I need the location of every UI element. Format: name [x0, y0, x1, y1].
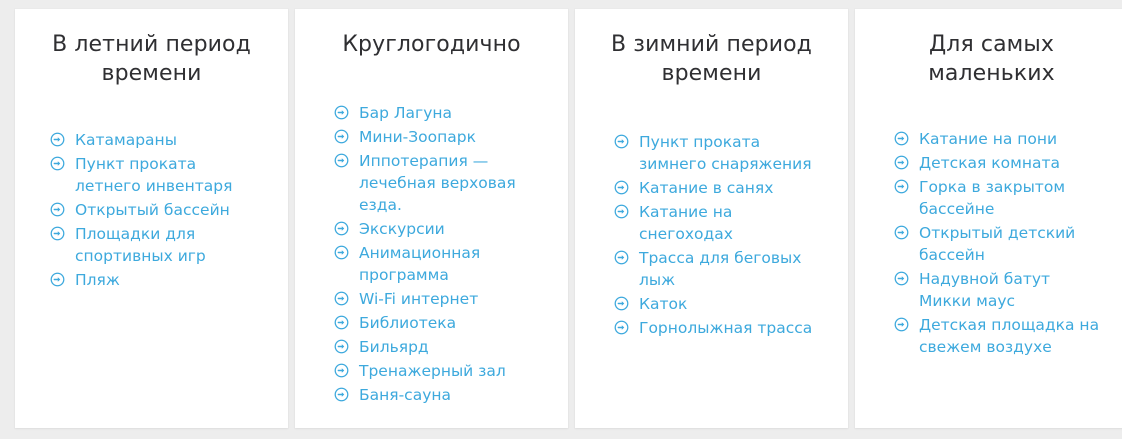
feature-list-item[interactable]: Открытый бассейн: [50, 199, 262, 221]
circle-arrow-right-icon: [334, 315, 349, 330]
feature-card: В летний период времениКатамараныПункт п…: [15, 9, 288, 428]
circle-arrow-right-icon: [334, 363, 349, 378]
circle-arrow-right-icon: [50, 132, 65, 147]
feature-list-item[interactable]: Горнолыжная трасса: [614, 317, 822, 339]
feature-list-item[interactable]: Площадки для спортивных игр: [50, 223, 262, 267]
feature-item-label: Катание в санях: [639, 177, 822, 199]
circle-arrow-right-icon: [614, 134, 629, 149]
circle-arrow-right-icon: [614, 296, 629, 311]
feature-item-label: Каток: [639, 293, 822, 315]
feature-list-item[interactable]: Мини-Зоопарк: [334, 126, 542, 148]
feature-item-label: Катание на снегоходах: [639, 201, 822, 245]
feature-list-item[interactable]: Пункт проката летнего инвентаря: [50, 153, 262, 197]
feature-item-label: Детская площадка на свежем воздухе: [919, 314, 1102, 358]
feature-item-label: Горка в закрытом бассейне: [919, 176, 1102, 220]
circle-arrow-right-icon: [614, 204, 629, 219]
feature-item-label: Анимационная программа: [359, 242, 542, 286]
feature-item-label: Экскурсии: [359, 218, 542, 240]
feature-item-label: Иппотерапия — лечебная верховая езда.: [359, 150, 542, 216]
feature-list-item[interactable]: Трасса для беговых лыж: [614, 247, 822, 291]
circle-arrow-right-icon: [50, 156, 65, 171]
feature-item-label: Пункт проката летнего инвентаря: [75, 153, 262, 197]
feature-item-label: Площадки для спортивных игр: [75, 223, 262, 267]
circle-arrow-right-icon: [50, 202, 65, 217]
feature-item-label: Тренажерный зал: [359, 360, 542, 382]
feature-list-item[interactable]: Катание на снегоходах: [614, 201, 822, 245]
feature-list-item[interactable]: Пляж: [50, 269, 262, 291]
feature-item-label: Горнолыжная трасса: [639, 317, 822, 339]
feature-list: Бар ЛагунаМини-ЗоопаркИппотерапия — лече…: [321, 102, 542, 408]
circle-arrow-right-icon: [894, 155, 909, 170]
feature-list-item[interactable]: Детская комната: [894, 152, 1102, 174]
feature-list-item[interactable]: Катание в санях: [614, 177, 822, 199]
feature-cards-grid: В летний период времениКатамараныПункт п…: [0, 0, 1122, 439]
feature-item-label: Бильярд: [359, 336, 542, 358]
feature-list-item[interactable]: Баня-сауна: [334, 384, 542, 406]
feature-item-label: Детская комната: [919, 152, 1102, 174]
circle-arrow-right-icon: [334, 105, 349, 120]
feature-item-label: Открытый бассейн: [75, 199, 262, 221]
feature-list-item[interactable]: Пункт проката зимнего снаряжения: [614, 131, 822, 175]
feature-card: В зимний период времениПункт проката зим…: [575, 9, 848, 428]
feature-list-item[interactable]: Бар Лагуна: [334, 102, 542, 124]
feature-item-label: Wi-Fi интернет: [359, 288, 542, 310]
feature-list: КатамараныПункт проката летнего инвентар…: [41, 129, 262, 293]
circle-arrow-right-icon: [334, 339, 349, 354]
circle-arrow-right-icon: [894, 271, 909, 286]
circle-arrow-right-icon: [614, 320, 629, 335]
feature-item-label: Трасса для беговых лыж: [639, 247, 822, 291]
circle-arrow-right-icon: [334, 387, 349, 402]
feature-list-item[interactable]: Иппотерапия — лечебная верховая езда.: [334, 150, 542, 216]
feature-item-label: Надувной батут Микки маус: [919, 268, 1102, 312]
circle-arrow-right-icon: [50, 272, 65, 287]
feature-list-item[interactable]: Катание на пони: [894, 128, 1102, 150]
circle-arrow-right-icon: [334, 221, 349, 236]
card-title: В летний период времени: [41, 31, 262, 88]
circle-arrow-right-icon: [334, 245, 349, 260]
card-title: Круглогодично: [321, 31, 542, 60]
feature-item-label: Пляж: [75, 269, 262, 291]
feature-list: Катание на пониДетская комнатаГорка в за…: [881, 128, 1102, 360]
feature-list-item[interactable]: Детская площадка на свежем воздухе: [894, 314, 1102, 358]
circle-arrow-right-icon: [334, 129, 349, 144]
circle-arrow-right-icon: [334, 153, 349, 168]
circle-arrow-right-icon: [614, 250, 629, 265]
feature-list: Пункт проката зимнего снаряженияКатание …: [601, 131, 822, 341]
feature-list-item[interactable]: Надувной батут Микки маус: [894, 268, 1102, 312]
circle-arrow-right-icon: [614, 180, 629, 195]
feature-list-item[interactable]: Каток: [614, 293, 822, 315]
feature-list-item[interactable]: Библиотека: [334, 312, 542, 334]
feature-item-label: Баня-сауна: [359, 384, 542, 406]
feature-list-item[interactable]: Тренажерный зал: [334, 360, 542, 382]
feature-list-item[interactable]: Wi-Fi интернет: [334, 288, 542, 310]
card-title: Для самых маленьких: [881, 31, 1102, 88]
feature-item-label: Открытый детский бассейн: [919, 222, 1102, 266]
circle-arrow-right-icon: [894, 131, 909, 146]
feature-list-item[interactable]: Открытый детский бассейн: [894, 222, 1102, 266]
feature-item-label: Мини-Зоопарк: [359, 126, 542, 148]
circle-arrow-right-icon: [50, 226, 65, 241]
feature-list-item[interactable]: Горка в закрытом бассейне: [894, 176, 1102, 220]
circle-arrow-right-icon: [894, 225, 909, 240]
feature-item-label: Катамараны: [75, 129, 262, 151]
feature-list-item[interactable]: Бильярд: [334, 336, 542, 358]
feature-item-label: Пункт проката зимнего снаряжения: [639, 131, 822, 175]
feature-list-item[interactable]: Экскурсии: [334, 218, 542, 240]
circle-arrow-right-icon: [334, 291, 349, 306]
circle-arrow-right-icon: [894, 317, 909, 332]
circle-arrow-right-icon: [894, 179, 909, 194]
feature-list-item[interactable]: Анимационная программа: [334, 242, 542, 286]
card-title: В зимний период времени: [601, 31, 822, 88]
feature-item-label: Библиотека: [359, 312, 542, 334]
feature-item-label: Катание на пони: [919, 128, 1102, 150]
feature-list-item[interactable]: Катамараны: [50, 129, 262, 151]
feature-item-label: Бар Лагуна: [359, 102, 542, 124]
feature-card: Для самых маленькихКатание на пониДетска…: [855, 9, 1122, 428]
feature-card: КруглогодичноБар ЛагунаМини-ЗоопаркИппот…: [295, 9, 568, 428]
